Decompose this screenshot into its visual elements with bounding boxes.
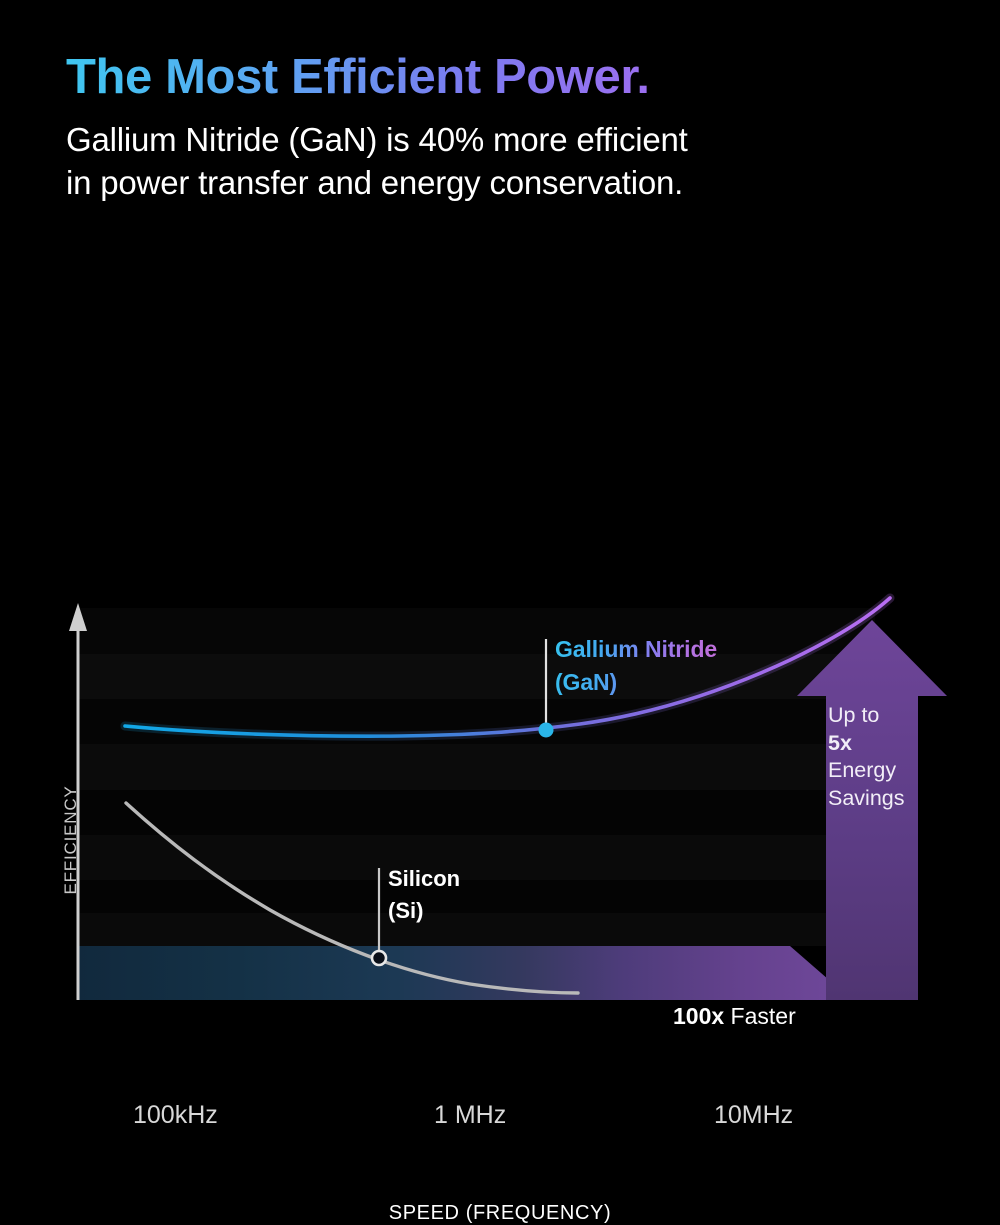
gan-label-line-1: Gallium Nitride (555, 633, 717, 666)
energy-line-4: Savings (828, 785, 948, 813)
energy-line-2: 5x (828, 730, 948, 758)
plot-background-bands (78, 608, 875, 946)
series-label-silicon: Silicon (Si) (388, 863, 460, 927)
x-axis-tick-0: 100kHz (133, 1101, 218, 1130)
speed-arrow-100x-faster (78, 946, 875, 1000)
infographic-root: The Most Efficient Power. Gallium Nitrid… (0, 0, 1000, 1000)
page-subtitle: Gallium Nitride (GaN) is 40% more effici… (66, 118, 946, 205)
silicon-label-line-2: (Si) (388, 895, 460, 927)
silicon-label-line-1: Silicon (388, 863, 460, 895)
speed-faster-label: 100x Faster (673, 1003, 796, 1030)
efficiency-chart: Gallium Nitride (GaN) Silicon (Si) Up to… (0, 290, 1000, 1000)
energy-line-3: Energy (828, 757, 948, 785)
page-title: The Most Efficient Power. (66, 52, 946, 104)
x-axis-tick-2: 10MHz (714, 1101, 793, 1130)
chart-canvas (0, 290, 1000, 1000)
series-label-gan: Gallium Nitride (GaN) (555, 633, 717, 698)
speed-faster-text: Faster (724, 1003, 796, 1029)
x-axis-tick-1: 1 MHz (434, 1101, 506, 1130)
gan-label-line-2: (GaN) (555, 666, 717, 699)
energy-savings-label: Up to 5x Energy Savings (828, 702, 948, 813)
subtitle-line-2: in power transfer and energy conservatio… (66, 161, 946, 205)
energy-line-1: Up to (828, 702, 948, 730)
x-axis-title: SPEED (FREQUENCY) (0, 1202, 1000, 1225)
speed-faster-value: 100x (673, 1003, 724, 1029)
subtitle-line-1: Gallium Nitride (GaN) is 40% more effici… (66, 118, 946, 162)
y-axis-title: EFFICIENCY (61, 760, 81, 920)
header: The Most Efficient Power. Gallium Nitrid… (66, 52, 946, 205)
